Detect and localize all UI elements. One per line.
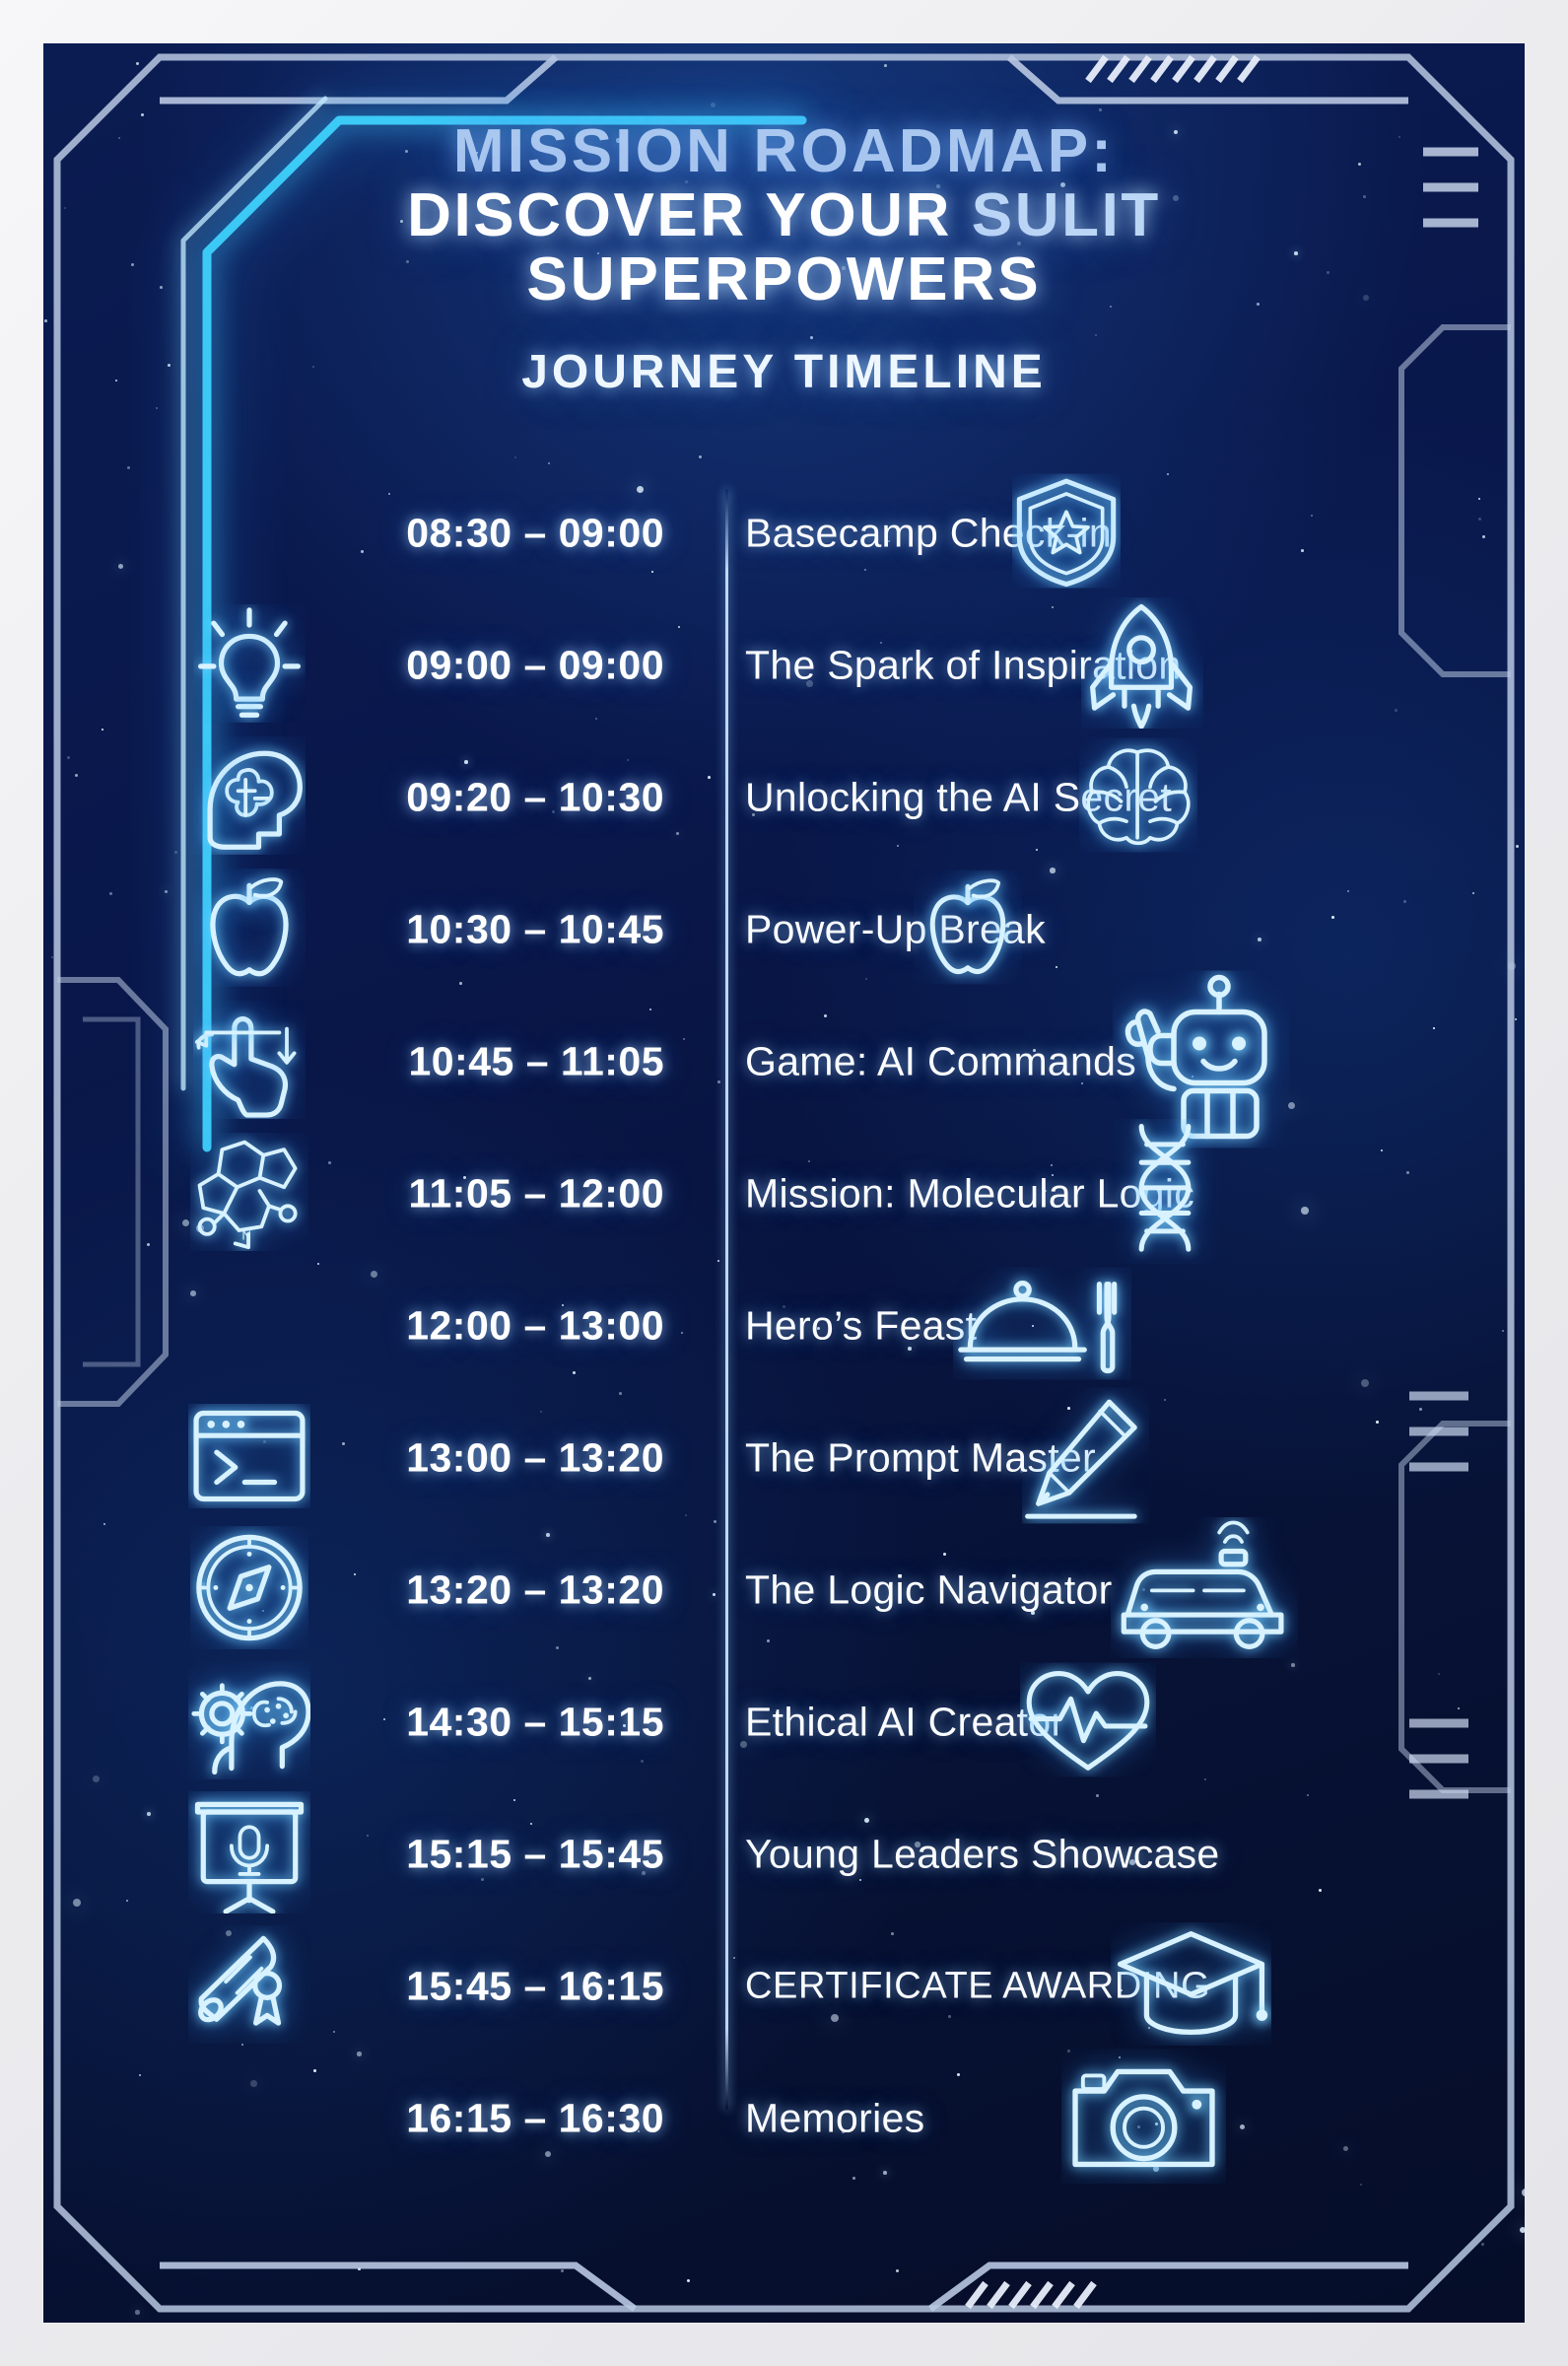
timeline-activity: Hero’s Feast [745, 1303, 977, 1350]
diploma-icon [188, 1925, 310, 2049]
self-driving-car-icon [1111, 1517, 1298, 1663]
timeline-row[interactable]: 12:00 – 13:00Hero’s Feast [43, 1260, 1525, 1392]
apple-icon [914, 870, 1022, 990]
timeline-activity: The Logic Navigator [745, 1567, 1113, 1614]
gear-brain-icon [188, 1661, 310, 1784]
timeline-time: 15:45 – 16:15 [311, 1964, 664, 2010]
timeline-time: 13:20 – 13:20 [311, 1567, 664, 1614]
swipe-hand-icon-slot [191, 1009, 307, 1115]
subtitle: JOURNEY TIMELINE [43, 345, 1525, 399]
timeline-time: 14:30 – 15:15 [311, 1700, 664, 1746]
timeline-activity: Memories [745, 2096, 924, 2142]
timeline-time: 13:00 – 13:20 [311, 1435, 664, 1482]
terminal-icon-slot [191, 1405, 307, 1511]
journey-timeline: 08:30 – 09:00Basecamp Check-in 09:00 – 0… [43, 467, 1525, 2185]
timeline-row[interactable]: 13:00 – 13:20The Prompt Master [43, 1392, 1525, 1524]
cloche-fork-icon [953, 1268, 1131, 1385]
apple-icon [193, 869, 306, 992]
heartbeat-icon [1020, 1663, 1156, 1782]
apple-icon-slot [191, 876, 307, 983]
left-icon-slot-empty [191, 2065, 307, 2172]
timeline-row[interactable]: 16:15 – 16:30Memories [43, 2053, 1525, 2185]
graduation-cap-icon-slot [1111, 1922, 1271, 2051]
apple-icon-slot [914, 870, 1022, 990]
cloche-fork-icon-slot [953, 1268, 1131, 1385]
timeline-row[interactable]: 09:20 – 10:30Unlocking the AI Secret [43, 731, 1525, 864]
timeline-row[interactable]: 10:30 – 10:45Power-Up Break [43, 864, 1525, 996]
compass-icon-slot [191, 1537, 307, 1643]
poster-canvas: MISSION ROADMAP: DISCOVER YOUR SULIT SUP… [43, 43, 1525, 2323]
shield-star-icon-slot [1012, 474, 1121, 593]
heartbeat-icon-slot [1020, 1663, 1156, 1782]
timeline-time: 16:15 – 16:30 [311, 2096, 664, 2142]
podium-mic-icon [188, 1791, 310, 1918]
timeline-time: 09:20 – 10:30 [311, 775, 664, 821]
timeline-row[interactable]: 08:30 – 09:00Basecamp Check-in [43, 467, 1525, 599]
lightbulb-icon [193, 604, 306, 728]
svg-text:N: N [241, 1227, 251, 1242]
title-line-3: SUPERPOWERS [43, 247, 1525, 312]
compass-icon [190, 1526, 308, 1654]
camera-icon [1061, 2049, 1226, 2189]
dna-icon-slot [1111, 1119, 1219, 1269]
swipe-hand-icon [193, 1001, 306, 1124]
camera-icon-slot [1061, 2049, 1226, 2189]
page-title: MISSION ROADMAP: [43, 120, 1525, 183]
self-driving-car-icon-slot [1111, 1517, 1298, 1663]
molecule-icon-slot: N [191, 1141, 307, 1247]
rocket-icon [1081, 597, 1203, 733]
graduation-cap-icon [1111, 1922, 1271, 2051]
timeline-row[interactable]: 14:30 – 15:15Ethical AI Creator [43, 1656, 1525, 1788]
title-line-2: DISCOVER YOUR SULIT [43, 183, 1525, 247]
timeline-row[interactable]: 13:20 – 13:20The Logic Navigator [43, 1524, 1525, 1656]
poster-header: MISSION ROADMAP: DISCOVER YOUR SULIT SUP… [43, 120, 1525, 399]
timeline-time: 10:30 – 10:45 [311, 907, 664, 953]
timeline-row[interactable]: N 11:05 – 12:00Mission: Molecular Logic [43, 1128, 1525, 1260]
diploma-icon-slot [191, 1933, 307, 2040]
rocket-icon-slot [1081, 597, 1203, 733]
timeline-time: 08:30 – 09:00 [311, 511, 664, 557]
timeline-activity: Ethical AI Creator [745, 1700, 1064, 1746]
timeline-time: 11:05 – 12:00 [311, 1171, 664, 1218]
lightbulb-icon-slot [191, 612, 307, 719]
terminal-icon [188, 1404, 310, 1513]
gear-brain-icon-slot [191, 1669, 307, 1775]
timeline-activity: Game: AI Commands [745, 1039, 1136, 1085]
dna-icon [1111, 1119, 1219, 1269]
timeline-row[interactable]: 10:45 – 11:05Game: AI Commands [43, 996, 1525, 1128]
left-icon-slot-empty [191, 480, 307, 587]
timeline-time: 10:45 – 11:05 [311, 1039, 664, 1085]
timeline-time: 15:15 – 15:45 [311, 1832, 664, 1878]
brain-icon [1079, 738, 1197, 858]
title-line-2-prefix: DISCOVER YOUR [407, 181, 972, 249]
shield-star-icon [1012, 474, 1121, 593]
timeline-row[interactable]: 15:45 – 16:15CERTIFICATE AWARDING [43, 1920, 1525, 2053]
timeline-row[interactable]: 15:15 – 15:45Young Leaders Showcase [43, 1788, 1525, 1920]
podium-mic-icon-slot [191, 1801, 307, 1908]
pen-icon-slot [1022, 1388, 1149, 1529]
timeline-row[interactable]: 09:00 – 09:00The Spark of Inspiration [43, 599, 1525, 731]
pen-icon [1022, 1388, 1149, 1529]
timeline-time: 12:00 – 13:00 [311, 1303, 664, 1350]
timeline-time: 09:00 – 09:00 [311, 643, 664, 689]
left-icon-slot-empty [191, 1273, 307, 1379]
head-brain-icon-slot [191, 744, 307, 851]
head-brain-icon [193, 736, 306, 860]
molecule-icon: N [190, 1133, 308, 1256]
brain-icon-slot [1079, 738, 1197, 858]
poster-page: MISSION ROADMAP: DISCOVER YOUR SULIT SUP… [0, 0, 1568, 2366]
timeline-activity: Young Leaders Showcase [745, 1832, 1220, 1878]
title-brand-word: SULIT [972, 181, 1161, 249]
